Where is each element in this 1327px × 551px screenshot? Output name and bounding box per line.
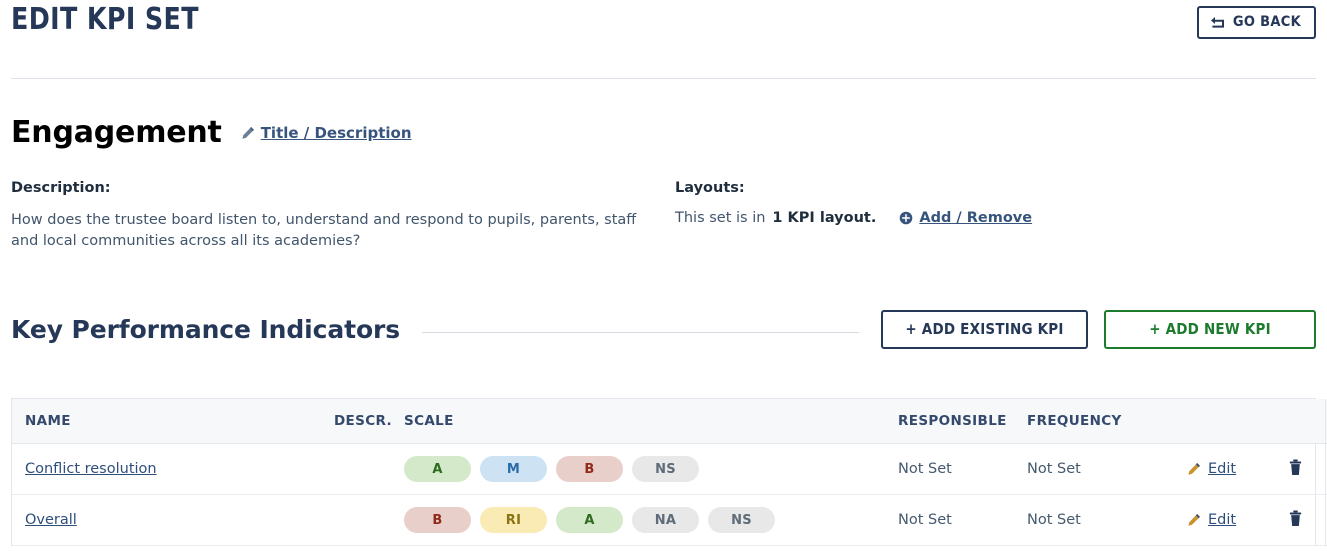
edit-label: Edit	[1208, 461, 1236, 477]
scale-badge: NA	[632, 507, 699, 533]
column-header-frequency: FREQUENCY	[1027, 399, 1187, 444]
scale-badge: B	[556, 456, 623, 482]
cell-edit: Edit	[1187, 495, 1267, 546]
layouts-label: Layouts:	[675, 180, 1315, 196]
kpi-name-link[interactable]: Overall	[25, 512, 77, 528]
delete-kpi-button[interactable]	[1288, 459, 1303, 476]
page-title: EDIT KPI SET	[11, 2, 199, 37]
responsible-value: Not Set	[898, 461, 952, 477]
kpi-section-divider	[422, 332, 859, 333]
cell-scale: BRIANANS	[404, 495, 898, 546]
responsible-value: Not Set	[898, 512, 952, 528]
kpi-action-buttons: + ADD EXISTING KPI + ADD NEW KPI	[881, 310, 1316, 349]
layouts-prefix: This set is in	[675, 210, 765, 226]
edit-label: Edit	[1208, 512, 1236, 528]
cell-name: Overall	[12, 495, 334, 546]
scale-badge: NS	[632, 456, 699, 482]
layouts-block: Layouts: This set is in 1 KPI layout. Ad…	[675, 180, 1315, 252]
column-header-responsible: RESPONSIBLE	[898, 399, 1027, 444]
description-block: Description: How does the trustee board …	[11, 180, 675, 252]
table-row: Conflict resolution AMBNS Not Set Not Se…	[12, 444, 1327, 495]
table-header-row: NAME DESCR. SCALE RESPONSIBLE FREQUENCY	[12, 399, 1327, 444]
description-text: How does the trustee board listen to, un…	[11, 210, 656, 252]
table-row: Overall BRIANANS Not Set Not Set Edit	[12, 495, 1327, 546]
layouts-summary: This set is in 1 KPI layout. Add / Remov…	[675, 210, 1315, 226]
pencil-icon	[1187, 462, 1201, 476]
delete-kpi-button[interactable]	[1288, 510, 1303, 527]
layouts-count: 1 KPI layout.	[772, 210, 876, 226]
column-header-descr: DESCR.	[334, 399, 404, 444]
add-new-kpi-button[interactable]: + ADD NEW KPI	[1104, 310, 1316, 349]
cell-responsible: Not Set	[898, 495, 1027, 546]
column-header-name: NAME	[12, 399, 334, 444]
scale-badge: NS	[708, 507, 775, 533]
trash-icon	[1288, 459, 1303, 476]
header-divider	[11, 78, 1316, 79]
cell-descr	[334, 495, 404, 546]
edit-title-description-link[interactable]: Title / Description	[241, 124, 412, 142]
layouts-add-remove-label: Add / Remove	[919, 210, 1032, 226]
kpi-table-body: Conflict resolution AMBNS Not Set Not Se…	[12, 444, 1327, 546]
pencil-icon	[241, 126, 255, 140]
undo-arrow-icon	[1210, 16, 1226, 29]
edit-kpi-set-page: EDIT KPI SET GO BACK Engagement Title / …	[0, 0, 1327, 551]
edit-title-description-label: Title / Description	[261, 124, 412, 142]
frequency-value: Not Set	[1027, 461, 1081, 477]
pencil-icon	[1187, 513, 1201, 527]
kpi-set-meta: Description: How does the trustee board …	[11, 180, 1316, 252]
kpi-section-header: Key Performance Indicators + ADD EXISTIN…	[11, 310, 1316, 349]
scale-badges: BRIANANS	[404, 507, 898, 533]
scale-badges: AMBNS	[404, 456, 898, 482]
edit-kpi-button[interactable]: Edit	[1187, 512, 1267, 528]
scale-badge: A	[404, 456, 471, 482]
kpi-name-link[interactable]: Conflict resolution	[25, 461, 157, 477]
kpi-section-title: Key Performance Indicators	[11, 315, 400, 344]
cell-delete	[1267, 495, 1325, 546]
page-header: EDIT KPI SET GO BACK	[11, 0, 1316, 78]
go-back-button[interactable]: GO BACK	[1197, 6, 1316, 39]
cell-frequency: Not Set	[1027, 495, 1187, 546]
column-header-actions	[1187, 399, 1267, 444]
plus-circle-icon	[899, 211, 913, 225]
cell-scale: AMBNS	[404, 444, 898, 495]
scale-badge: A	[556, 507, 623, 533]
cell-responsible: Not Set	[898, 444, 1027, 495]
cell-edit: Edit	[1187, 444, 1267, 495]
kpi-table-container: NAME DESCR. SCALE RESPONSIBLE FREQUENCY …	[11, 398, 1316, 546]
trash-icon	[1288, 510, 1303, 527]
go-back-label: GO BACK	[1233, 15, 1301, 30]
column-header-scale: SCALE	[404, 399, 898, 444]
kpi-set-name: Engagement	[11, 118, 222, 148]
layouts-add-remove-link[interactable]: Add / Remove	[899, 210, 1032, 226]
scale-badge: B	[404, 507, 471, 533]
kpi-table: NAME DESCR. SCALE RESPONSIBLE FREQUENCY …	[12, 399, 1327, 546]
cell-name: Conflict resolution	[12, 444, 334, 495]
cell-delete	[1267, 444, 1325, 495]
edit-kpi-button[interactable]: Edit	[1187, 461, 1267, 477]
kpi-set-heading: Engagement Title / Description	[11, 118, 412, 148]
description-label: Description:	[11, 180, 675, 196]
column-header-delete	[1267, 399, 1325, 444]
scale-badge: RI	[480, 507, 547, 533]
add-existing-kpi-button[interactable]: + ADD EXISTING KPI	[881, 310, 1088, 349]
cell-descr	[334, 444, 404, 495]
scale-badge: M	[480, 456, 547, 482]
cell-frequency: Not Set	[1027, 444, 1187, 495]
frequency-value: Not Set	[1027, 512, 1081, 528]
kpi-table-head: NAME DESCR. SCALE RESPONSIBLE FREQUENCY	[12, 399, 1327, 444]
